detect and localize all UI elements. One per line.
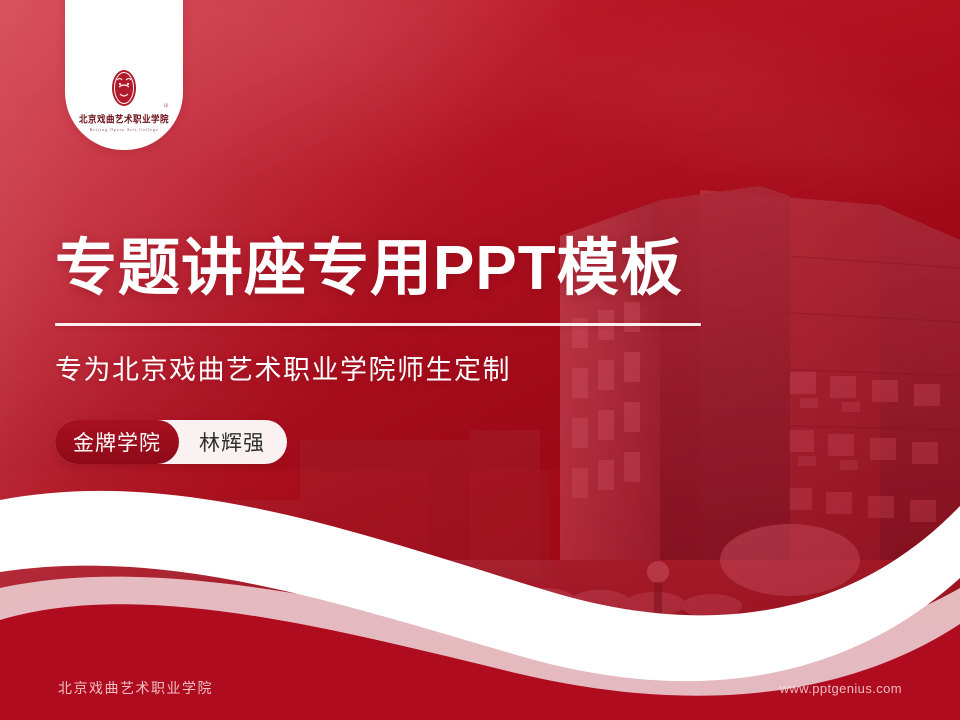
- slide-title: 专题讲座专用PPT模板: [55, 236, 775, 301]
- title-divider-rule: [55, 323, 701, 326]
- presentation-slide: 北京戏曲艺术职业学院 Beijing Opera Arts College 印 …: [0, 0, 960, 720]
- presenter-badge[interactable]: 金牌学院 林辉强: [55, 420, 287, 464]
- logo-school-name-en: Beijing Opera Arts College: [89, 127, 158, 132]
- badge-tag-label: 金牌学院: [55, 420, 179, 464]
- footer-website-link[interactable]: www.pptgenius.com: [780, 681, 902, 696]
- opera-mask-seal-icon: [109, 68, 139, 108]
- school-logo-tag[interactable]: 北京戏曲艺术职业学院 Beijing Opera Arts College 印: [65, 0, 183, 150]
- badge-presenter-name: 林辉强: [179, 427, 265, 457]
- footer-school-name: 北京戏曲艺术职业学院: [58, 678, 213, 698]
- logo-school-name-zh: 北京戏曲艺术职业学院: [79, 112, 169, 126]
- slide-subtitle: 专为北京戏曲艺术职业学院师生定制: [55, 348, 775, 387]
- title-block: 专题讲座专用PPT模板 专为北京戏曲艺术职业学院师生定制: [55, 236, 775, 387]
- logo-seal-mark: 印: [164, 104, 171, 120]
